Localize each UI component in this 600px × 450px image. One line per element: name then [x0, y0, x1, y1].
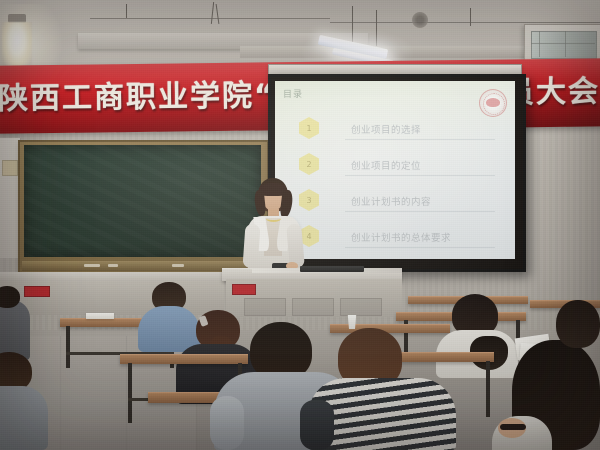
- ceiling-seam: [330, 22, 600, 23]
- hex-number-badge: 1: [299, 117, 319, 139]
- green-blackboard: [18, 140, 269, 274]
- bracelet: [500, 424, 526, 430]
- slide-toc-item: 1 创业项目的选择: [299, 117, 495, 143]
- toc-rule: [345, 247, 495, 248]
- desk-leg: [128, 363, 132, 423]
- handout-papers: [86, 313, 114, 319]
- classroom-photo: 陕西工商职业学院“互联 动员大会 目录 1 创业项目的选择 2: [0, 0, 600, 450]
- slide-toc-item: 3 创业计划书的内容: [299, 189, 495, 215]
- student-desk: [120, 354, 248, 364]
- pendant-lamp-left: [2, 22, 32, 68]
- slide-title: 目录: [283, 87, 303, 100]
- podium-panel: [244, 298, 286, 316]
- hanging-wire: [126, 4, 127, 18]
- student-head: [0, 286, 20, 308]
- presentation-slide: 目录 1 创业项目的选择 2 创业项目的定位 3 创业计划书的内容 4 创业计划…: [275, 81, 515, 259]
- warning-sign: [24, 286, 50, 297]
- student-arm: [300, 400, 334, 450]
- ac-vent: [531, 31, 597, 59]
- podium-panel: [292, 298, 334, 316]
- slide-toc-item: 4 创业计划书的总体要求: [299, 225, 495, 251]
- hex-number-badge: 2: [299, 153, 319, 175]
- wall-notice: [2, 160, 18, 176]
- toc-rule: [345, 175, 495, 176]
- desk-leg: [486, 361, 490, 417]
- chalk-dust: [24, 145, 261, 257]
- student-torso: [138, 306, 200, 352]
- ceiling-fixture-icon: [412, 12, 428, 28]
- presenter-necklace: [266, 215, 281, 222]
- slide-toc-item: 2 创业项目的定位: [299, 153, 495, 179]
- slide-toc-label: 创业项目的定位: [351, 158, 421, 172]
- podium-keyboard: [300, 266, 364, 272]
- podium-panel: [340, 298, 382, 316]
- hanging-wire: [470, 8, 471, 26]
- presenter: [236, 178, 308, 274]
- student-head: [556, 300, 600, 348]
- student-arm: [210, 396, 244, 450]
- student-desk: [330, 324, 450, 333]
- slide-toc-label: 创业计划书的总体要求: [351, 230, 451, 244]
- toc-rule: [345, 211, 495, 212]
- school-emblem: [479, 89, 507, 117]
- toc-rule: [345, 139, 495, 140]
- student-torso: [0, 386, 48, 450]
- presenter-hair-side: [279, 189, 293, 218]
- desk-leg: [66, 326, 70, 368]
- presenter-arm: [242, 224, 260, 269]
- ceiling-seam: [90, 18, 330, 19]
- slide-toc-label: 创业计划书的内容: [351, 194, 431, 208]
- slide-toc-label: 创业项目的选择: [351, 122, 421, 136]
- student-torso: [0, 300, 30, 360]
- warning-sign: [232, 284, 256, 295]
